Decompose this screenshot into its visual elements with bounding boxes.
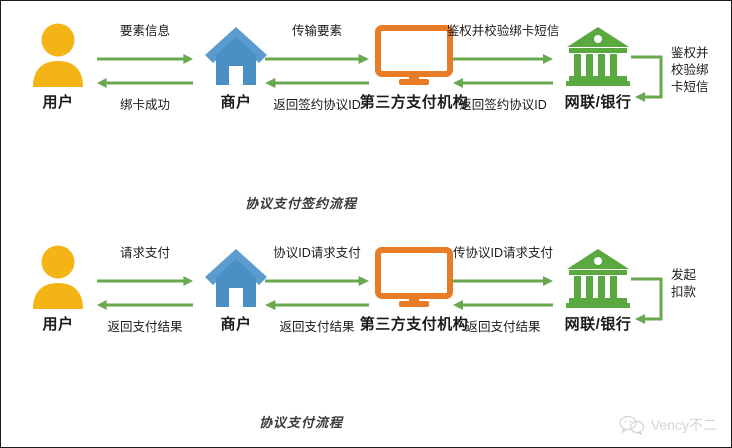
self-loop-bank: 发起 扣款 [631,263,732,343]
self-loop-bank: 鉴权并 校验绑 卡短信 [631,41,732,121]
arrow-label-forward: 传协议ID请求支付 [453,245,553,261]
self-loop-label: 鉴权并 校验绑 卡短信 [671,45,732,96]
self-loop-label-line: 发起 [671,267,732,284]
self-loop-label-line: 鉴权并 [671,45,732,62]
self-loop-label-line: 卡短信 [671,79,732,96]
self-loop-label-line: 校验绑 [671,62,732,79]
arrow-forward-icon [265,275,369,287]
caption-payment-flow: 协议支付流程 [1,412,601,431]
arrow-label-reverse: 返回支付结果 [279,319,354,335]
arrow-forward-icon [97,275,193,287]
self-loop-label-line: 扣款 [671,284,732,301]
caption-signing-flow: 协议支付签约流程 [1,193,601,212]
self-loop-arrow-icon [631,271,671,329]
arrow-forward-icon [265,53,369,65]
arrow-pair-merchant-psp: 协议ID请求支付 返回支付结果 [265,241,369,361]
arrow-reverse-icon [265,77,369,89]
arrow-forward-icon [453,275,553,287]
self-loop-label: 发起 扣款 [671,267,732,301]
arrow-label-forward: 鉴权并校验绑卡短信 [447,23,560,39]
arrow-pair-psp-bank: 传协议ID请求支付 返回支付结果 [453,241,553,361]
arrow-pair-merchant-psp: 传输要素 返回签约协议ID [265,19,369,139]
watermark: Vency不二 [619,415,717,435]
arrow-pair-user-merchant: 要素信息 绑卡成功 [97,19,193,139]
arrow-forward-icon [453,53,553,65]
arrow-forward-icon [97,53,193,65]
flow-signing: 用户 商户 第三方支付机构 [1,19,732,199]
arrow-label-reverse: 返回支付结果 [465,319,540,335]
arrow-label-reverse: 返回签约协议ID [273,97,361,113]
arrow-label-forward: 要素信息 [120,23,170,39]
arrow-reverse-icon [97,299,193,311]
arrow-label-reverse: 返回签约协议ID [459,97,547,113]
arrow-reverse-icon [97,77,193,89]
diagram-canvas: 用户 商户 第三方支付机构 [0,0,732,448]
flow-payment: 用户 商户 第三方支付机构 [1,241,732,421]
wechat-icon [619,415,645,435]
arrow-reverse-icon [453,77,553,89]
arrow-label-forward: 协议ID请求支付 [273,245,361,261]
self-loop-arrow-icon [631,49,671,107]
arrow-pair-user-merchant: 请求支付 返回支付结果 [97,241,193,361]
arrow-label-reverse: 返回支付结果 [107,319,182,335]
arrow-label-forward: 传输要素 [292,23,342,39]
arrow-reverse-icon [265,299,369,311]
arrow-label-reverse: 绑卡成功 [120,97,170,113]
watermark-text: Vency不二 [651,415,717,435]
arrow-reverse-icon [453,299,553,311]
arrow-pair-psp-bank: 鉴权并校验绑卡短信 返回签约协议ID [453,19,553,139]
arrow-label-forward: 请求支付 [120,245,170,261]
